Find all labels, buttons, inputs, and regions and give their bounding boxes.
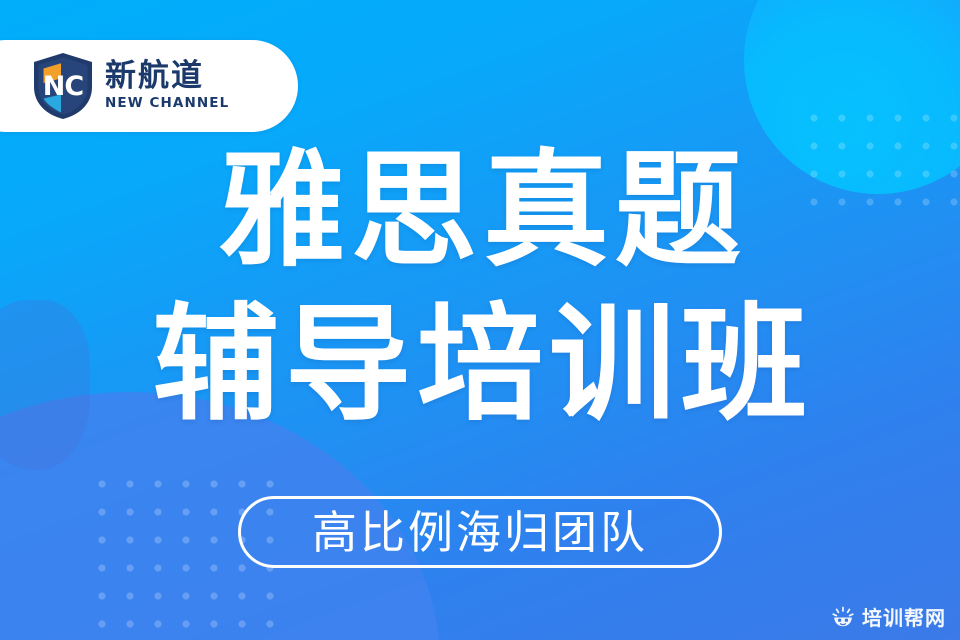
subtitle-text: 高比例海归团队 bbox=[312, 510, 648, 555]
brand-name-chinese: 新航道 bbox=[105, 61, 229, 92]
brand-logo-panel: NC 新航道 NEW CHANNEL bbox=[0, 40, 298, 132]
brand-wordmark: 新航道 NEW CHANNEL bbox=[105, 61, 229, 111]
site-watermark: 培训帮网 bbox=[825, 604, 952, 632]
headline-line-2: 辅导培训班 bbox=[0, 302, 960, 428]
nc-shield-icon: NC bbox=[30, 51, 96, 121]
svg-text:NC: NC bbox=[43, 71, 84, 102]
brand-logo-inner: NC 新航道 NEW CHANNEL bbox=[30, 51, 229, 121]
brand-name-english: NEW CHANNEL bbox=[105, 97, 229, 111]
headline-line-1: 雅思真题 bbox=[0, 148, 960, 274]
promo-banner: NC 新航道 NEW CHANNEL 雅思真题 辅导培训班 高比例海归团队 bbox=[0, 0, 960, 640]
smiley-sun-face-icon bbox=[831, 606, 855, 630]
subtitle-pill: 高比例海归团队 bbox=[238, 496, 722, 568]
headline-block: 雅思真题 辅导培训班 bbox=[0, 148, 960, 428]
watermark-text: 培训帮网 bbox=[862, 608, 946, 628]
